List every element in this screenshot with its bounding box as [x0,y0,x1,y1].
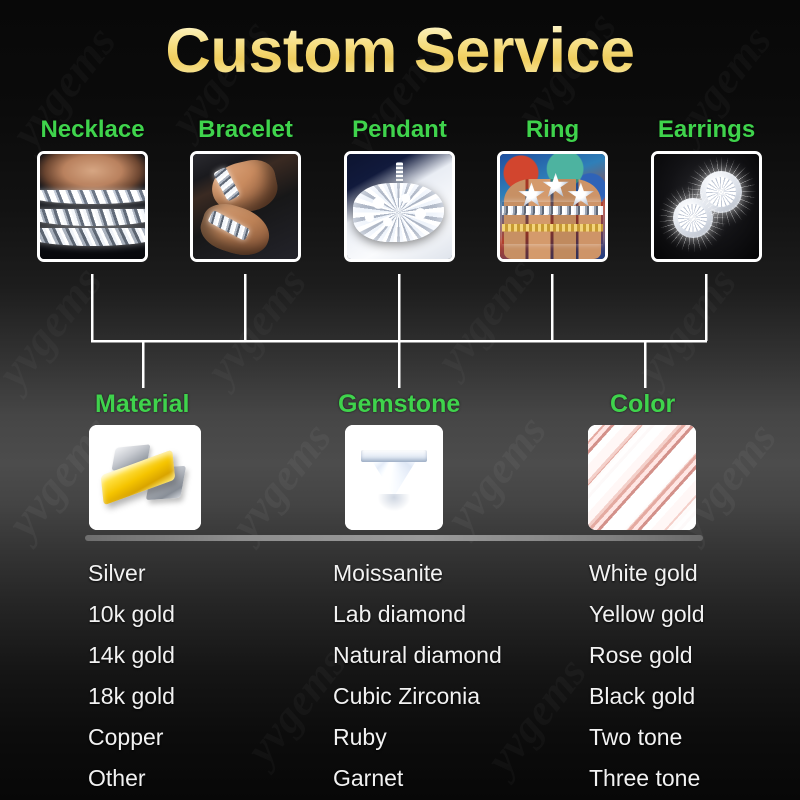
color-image [588,425,696,530]
list-item[interactable]: Rose gold [589,635,705,676]
option-label: Color [610,392,675,417]
gemstone-option-list[interactable]: Moissanite Lab diamond Natural diamond C… [333,553,502,799]
list-item[interactable]: 10k gold [88,594,175,635]
earrings-photo[interactable] [651,151,762,262]
bracelet-image [193,154,298,259]
list-item[interactable]: Yellow gold [589,594,705,635]
watermark: yvgems [625,258,746,393]
category-pendant[interactable]: Pendant [344,118,455,262]
color-option-list[interactable]: White gold Yellow gold Rose gold Black g… [589,553,705,799]
section-divider [85,535,703,541]
pendant-photo[interactable] [344,151,455,262]
earrings-image [654,154,759,259]
watermark: yvgems [220,413,341,548]
list-item[interactable]: Ruby [333,717,502,758]
list-item[interactable]: 18k gold [88,676,175,717]
list-item[interactable]: Black gold [589,676,705,717]
option-label: Material [95,392,189,417]
pendant-image [347,154,452,259]
page-title: Custom Service [0,18,800,84]
category-bracelet[interactable]: Bracelet [190,118,301,262]
list-item[interactable]: Lab diamond [333,594,502,635]
necklace-image [40,154,145,259]
list-item[interactable]: 14k gold [88,635,175,676]
gemstone-image [345,425,443,530]
custom-service-infographic: yvgems yvgems yvgems yvgems yvgems yvgem… [0,0,800,800]
diamond-photo[interactable] [345,425,443,530]
list-item[interactable]: Two tone [589,717,705,758]
watermark: yvgems [195,258,316,393]
ring-photo[interactable] [497,151,608,262]
material-option-list[interactable]: Silver 10k gold 14k gold 18k gold Copper… [88,553,175,799]
list-item[interactable]: White gold [589,553,705,594]
list-item[interactable]: Cubic Zirconia [333,676,502,717]
bracelet-photo[interactable] [190,151,301,262]
list-item[interactable]: Garnet [333,758,502,799]
list-item[interactable]: Other [88,758,175,799]
category-necklace[interactable]: Necklace [37,118,148,262]
list-item[interactable]: Moissanite [333,553,502,594]
option-gemstone[interactable]: Gemstone [338,392,460,417]
category-label: Pendant [344,118,455,142]
category-earrings[interactable]: Earrings [651,118,762,262]
list-item[interactable]: Silver [88,553,175,594]
list-item[interactable]: Copper [88,717,175,758]
material-image [89,425,201,530]
list-item[interactable]: Three tone [589,758,705,799]
necklace-photo[interactable] [37,151,148,262]
category-label: Ring [497,118,608,142]
watermark: yvgems [0,256,112,397]
watermark: yvgems [435,406,556,541]
category-label: Necklace [37,118,148,142]
option-color[interactable]: Color [610,392,675,417]
list-item[interactable]: Natural diamond [333,635,502,676]
ring-image [500,154,605,259]
option-material[interactable]: Material [95,392,189,417]
option-label: Gemstone [338,392,460,417]
rose-gold-chains-photo[interactable] [588,425,696,530]
category-ring[interactable]: Ring [497,118,608,262]
gold-silver-bars-photo[interactable] [89,425,201,530]
watermark: yvgems [425,248,546,383]
category-label: Earrings [651,118,762,142]
category-label: Bracelet [190,118,301,142]
